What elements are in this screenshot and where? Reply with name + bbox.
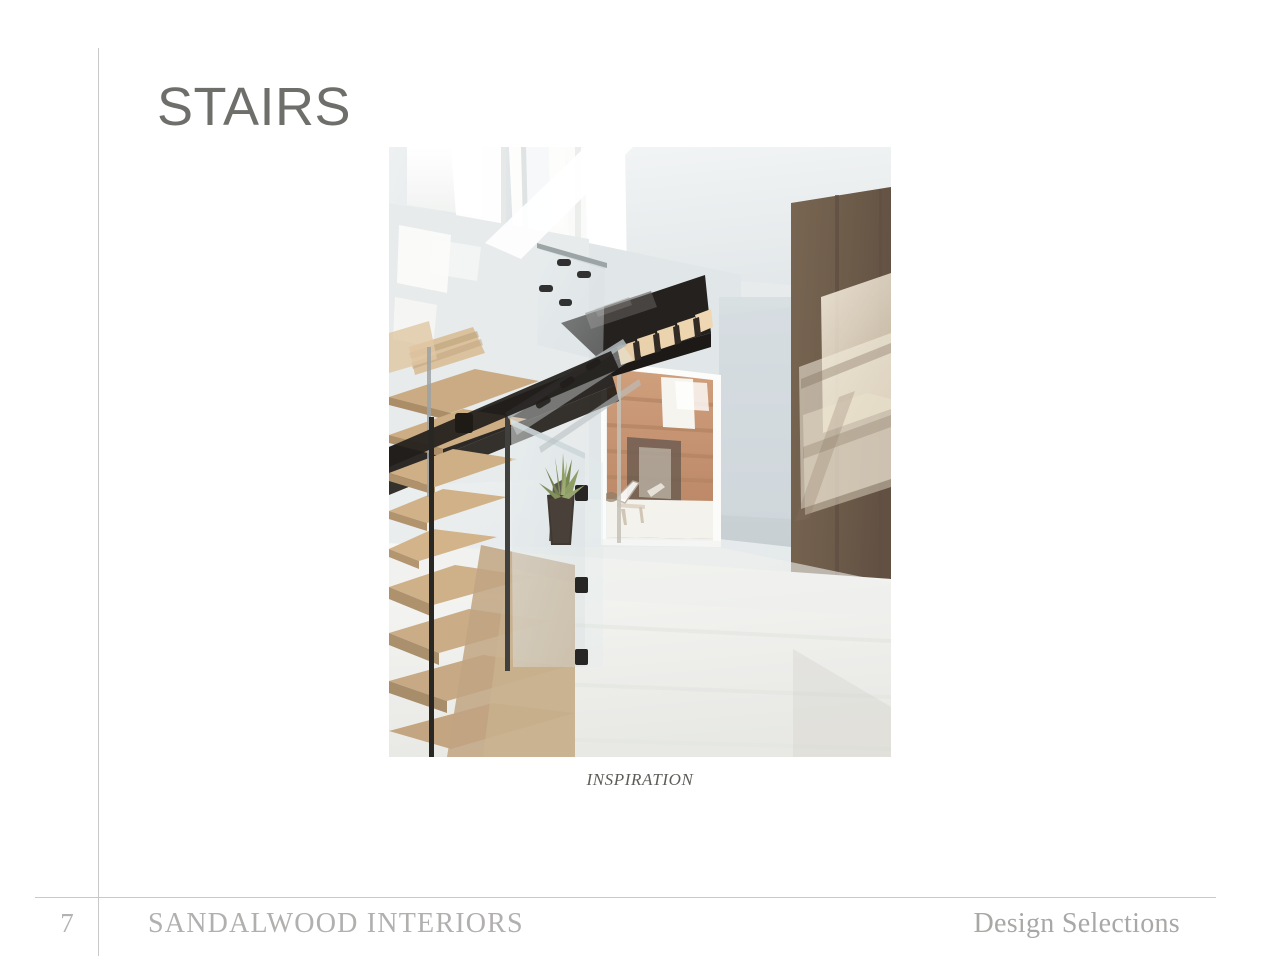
slide-canvas: STAIRS — [0, 0, 1280, 960]
footer-document-title: Design Selections — [973, 908, 1180, 940]
photo-caption: INSPIRATION — [389, 770, 891, 790]
page-title: STAIRS — [157, 79, 351, 136]
vertical-divider-rule — [98, 48, 99, 956]
interior-photo-illustration — [389, 147, 891, 757]
page-number: 7 — [52, 908, 82, 939]
footer-divider-rule — [35, 897, 1216, 898]
footer-company-name: SANDALWOOD INTERIORS — [148, 908, 524, 940]
inspiration-photo — [389, 147, 891, 757]
